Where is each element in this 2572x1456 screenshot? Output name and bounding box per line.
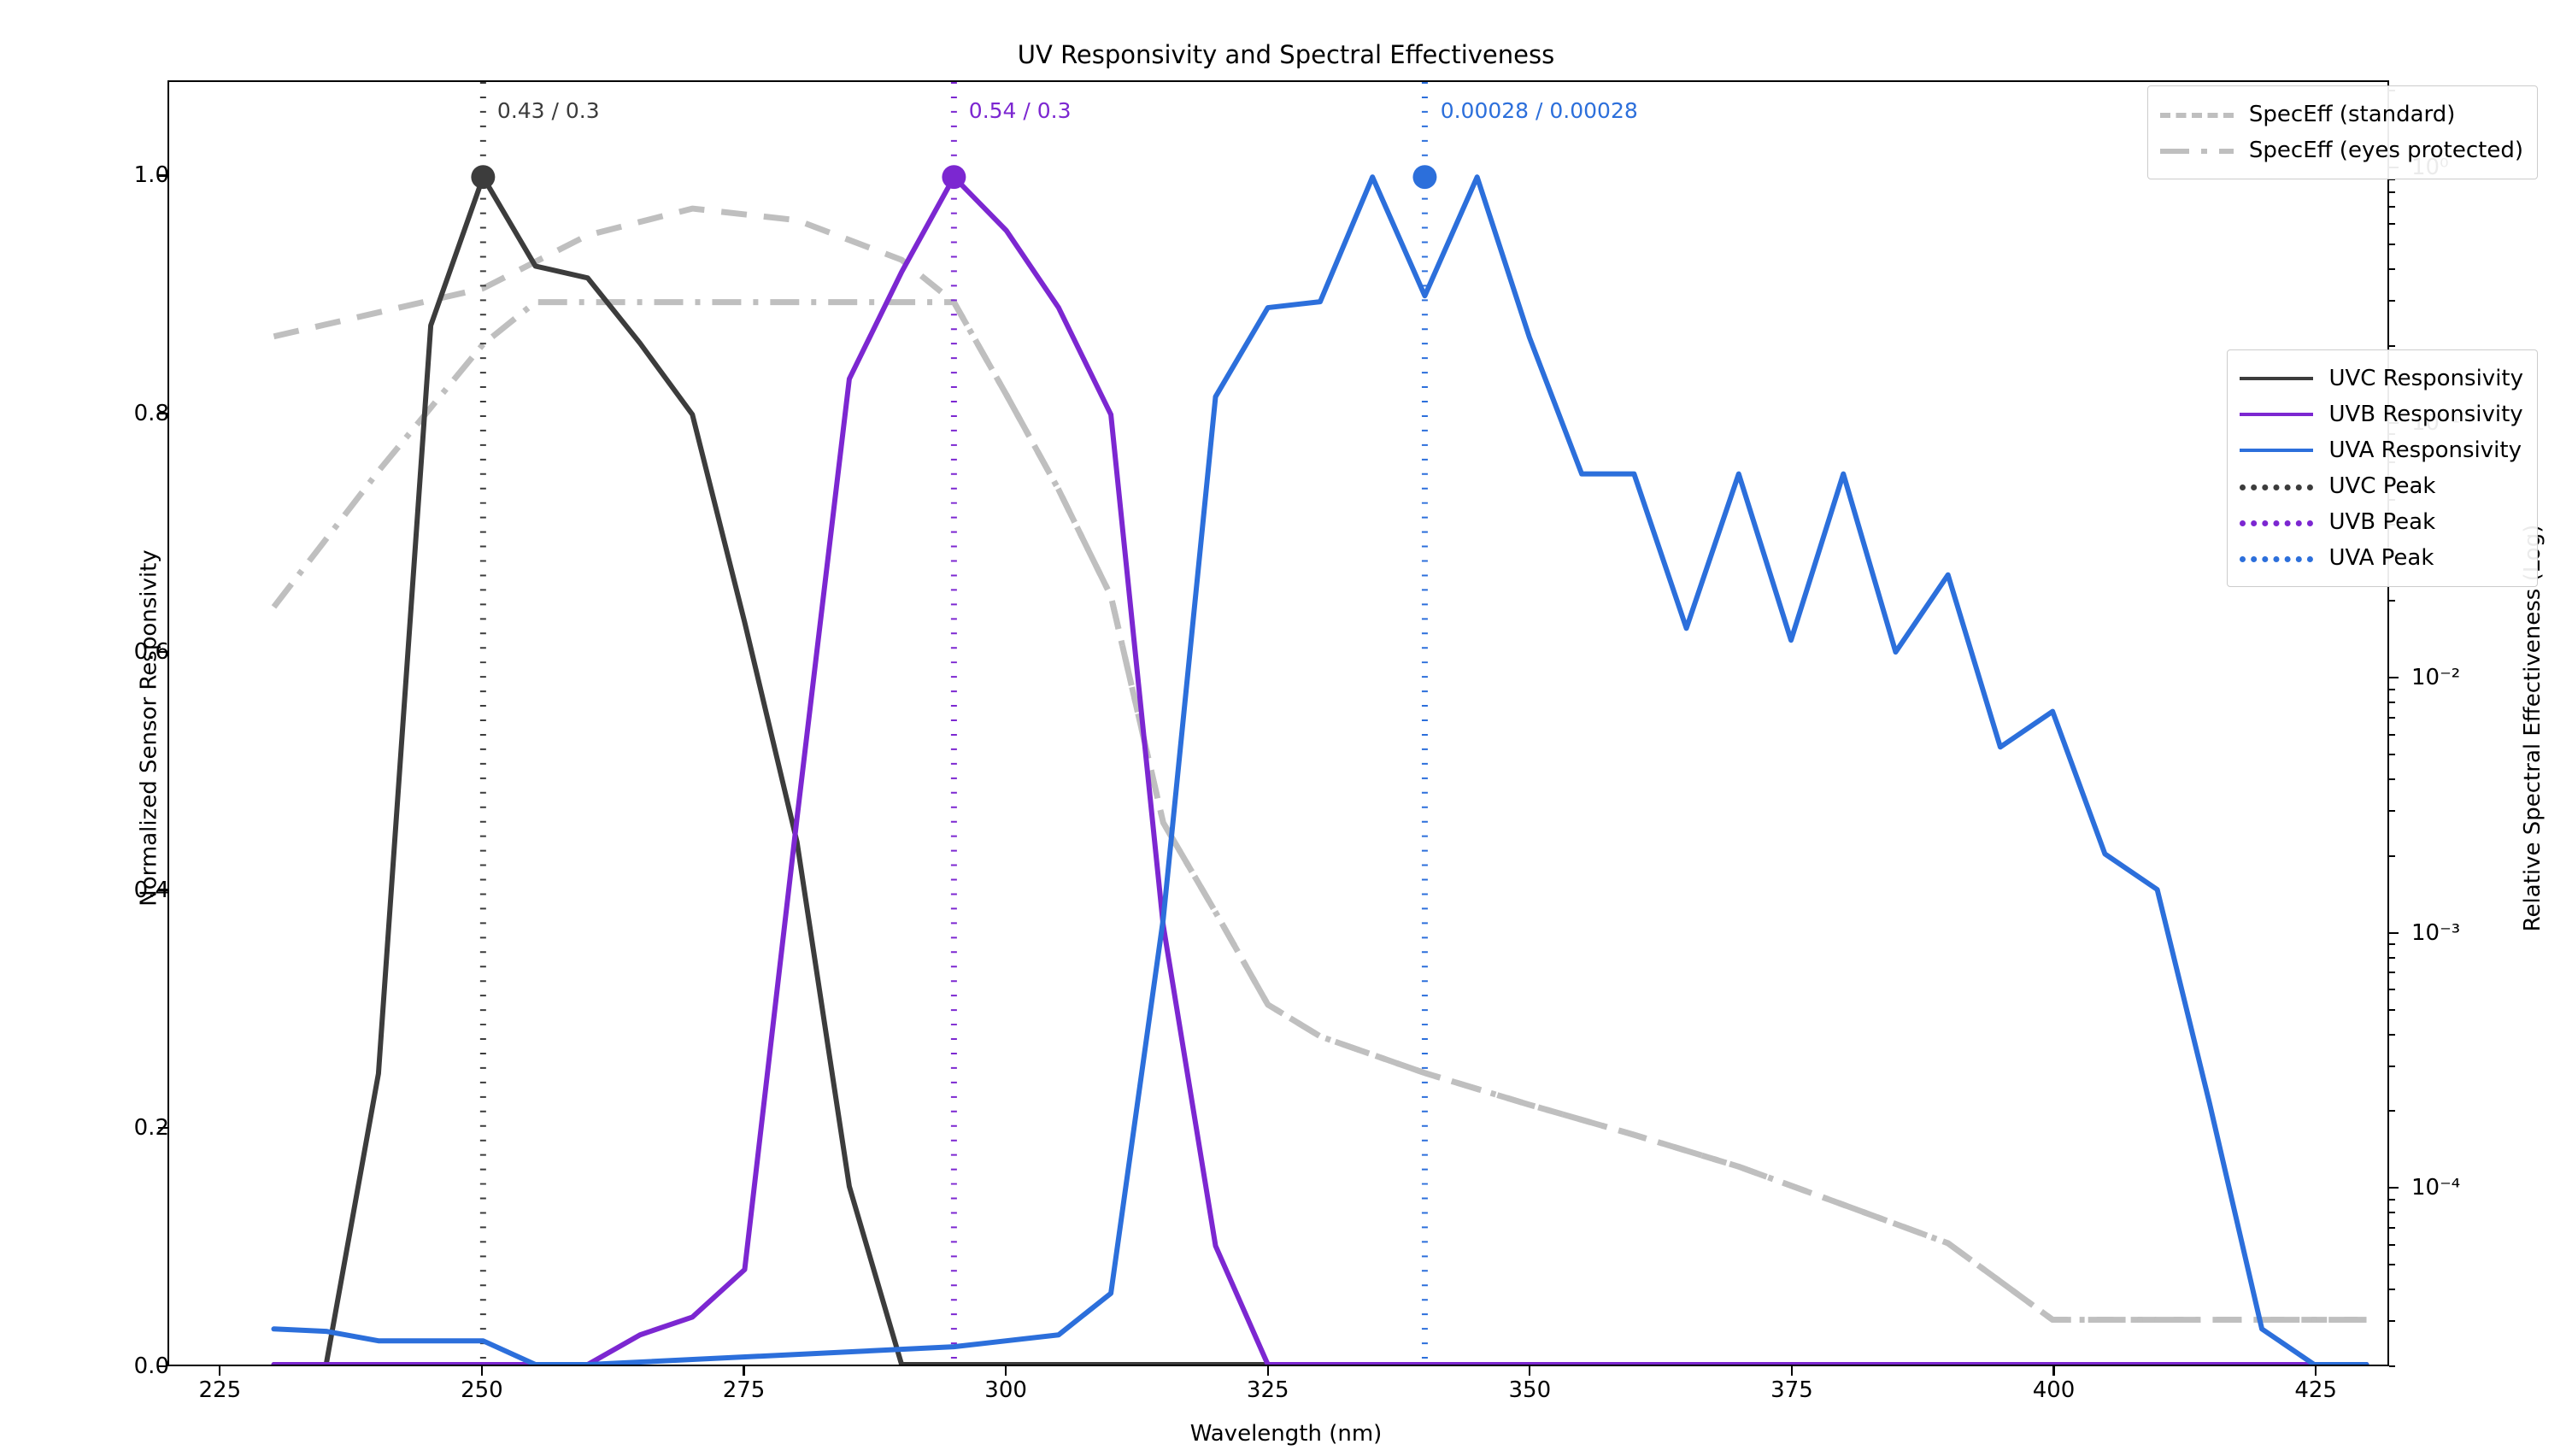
legend-line-swatch-icon xyxy=(2240,369,2313,388)
y-minor-tick-right xyxy=(2389,717,2395,719)
legend-responsivity-item[interactable]: UVC Peak xyxy=(2240,468,2523,504)
series-speceff-eyes-protected xyxy=(273,302,2366,1320)
y-tick-label-right: 10⁻³ xyxy=(2411,920,2531,946)
legend-swatch xyxy=(2240,413,2313,416)
x-tick-label: 300 xyxy=(954,1377,1057,1403)
y-axis-label-left: Normalized Sensor Responsivity xyxy=(137,549,162,906)
y-tick-mark-right xyxy=(2389,677,2399,678)
y-tick-label-left: 1.0 xyxy=(67,162,169,188)
x-tick-mark xyxy=(1267,1366,1269,1376)
y-tick-mark-right xyxy=(2389,1187,2399,1189)
uvb-peak-annotation: 0.54 / 0.3 xyxy=(969,98,1072,123)
x-tick-mark xyxy=(2315,1366,2317,1376)
chart-canvas xyxy=(169,82,2387,1365)
y-minor-tick-right xyxy=(2389,989,2395,990)
legend-swatch xyxy=(2240,484,2313,490)
responsivity-curves-group xyxy=(273,177,2366,1365)
legend-swatch xyxy=(2240,377,2313,380)
y-tick-mark-left xyxy=(158,1365,167,1367)
x-tick-label: 325 xyxy=(1217,1377,1319,1403)
marker-uvb-peak-marker xyxy=(942,165,966,189)
legend-swatch xyxy=(2160,149,2234,154)
y-minor-tick-right xyxy=(2389,244,2395,245)
legend-responsivity-item[interactable]: UVB Responsivity xyxy=(2240,396,2523,432)
y-minor-tick-right xyxy=(2389,600,2395,602)
y-minor-tick-right xyxy=(2389,268,2395,270)
legend-label: UVC Responsivity xyxy=(2328,367,2523,390)
y-minor-tick-right xyxy=(2389,810,2395,812)
uvc-peak-annotation: 0.43 / 0.3 xyxy=(497,98,600,123)
legend-line-swatch-icon xyxy=(2240,513,2313,531)
y-tick-label-right: 10⁻² xyxy=(2411,665,2531,690)
y-minor-tick-right xyxy=(2389,754,2395,755)
y-tick-label-left: 0.0 xyxy=(67,1353,169,1379)
y-minor-tick-right xyxy=(2389,1066,2395,1067)
y-tick-label-right: 10⁻⁴ xyxy=(2411,1175,2531,1201)
legend-swatch xyxy=(2240,520,2313,526)
y-minor-tick-right xyxy=(2389,191,2395,193)
y-minor-tick-right xyxy=(2389,778,2395,780)
legend-line-swatch-icon xyxy=(2240,405,2313,424)
y-minor-tick-right xyxy=(2389,1034,2395,1036)
x-tick-mark xyxy=(2052,1366,2054,1376)
legend-label: UVC Peak xyxy=(2328,475,2435,497)
y-minor-tick-right xyxy=(2389,1009,2395,1011)
y-minor-tick-right xyxy=(2389,1212,2395,1213)
y-minor-tick-right xyxy=(2389,943,2395,945)
peak-vlines-group xyxy=(483,82,1424,1365)
y-minor-tick-right xyxy=(2389,1110,2395,1112)
legend-responsivity-item[interactable]: UVA Responsivity xyxy=(2240,432,2523,468)
y-minor-tick-right xyxy=(2389,734,2395,736)
legend-label: UVB Responsivity xyxy=(2328,403,2522,426)
x-tick-label: 225 xyxy=(168,1377,271,1403)
series-uvc-responsivity xyxy=(273,177,2366,1365)
legend-speceff-item[interactable]: SpecEff (standard) xyxy=(2160,97,2523,132)
marker-uva-peak-marker xyxy=(1412,165,1436,189)
y-tick-mark-left xyxy=(158,651,167,653)
legend-speceff[interactable]: SpecEff (standard)SpecEff (eyes protecte… xyxy=(2147,85,2538,179)
y-minor-tick-right xyxy=(2389,345,2395,347)
y-tick-mark-left xyxy=(158,1127,167,1129)
y-minor-tick-right xyxy=(2389,206,2395,208)
marker-uvc-peak-marker xyxy=(471,165,495,189)
plot-area xyxy=(167,80,2389,1366)
series-uva-responsivity xyxy=(273,177,2366,1365)
page-title: UV Responsivity and Spectral Effectivene… xyxy=(0,40,2572,69)
y-minor-tick-right xyxy=(2389,855,2395,857)
y-minor-tick-right xyxy=(2389,1244,2395,1246)
y-tick-label-left: 0.6 xyxy=(67,639,169,665)
y-tick-mark-left xyxy=(158,413,167,414)
y-tick-label-left: 0.8 xyxy=(67,401,169,426)
y-minor-tick-right xyxy=(2389,1365,2395,1367)
legend-speceff-item[interactable]: SpecEff (eyes protected) xyxy=(2160,132,2523,168)
legend-line-swatch-icon xyxy=(2240,477,2313,496)
legend-responsivity-item[interactable]: UVC Responsivity xyxy=(2240,361,2523,396)
legend-label: SpecEff (standard) xyxy=(2249,103,2456,126)
legend-line-swatch-icon xyxy=(2240,549,2313,567)
x-tick-label: 250 xyxy=(431,1377,533,1403)
y-tick-mark-right xyxy=(2389,932,2399,934)
y-minor-tick-right xyxy=(2389,972,2395,973)
legend-swatch xyxy=(2160,113,2234,118)
x-tick-mark xyxy=(219,1366,220,1376)
x-tick-label: 400 xyxy=(2003,1377,2105,1403)
x-tick-mark xyxy=(481,1366,483,1376)
y-minor-tick-right xyxy=(2389,1320,2395,1322)
legend-responsivity-item[interactable]: UVB Peak xyxy=(2240,504,2523,540)
legend-swatch xyxy=(2240,449,2313,452)
legend-line-swatch-icon xyxy=(2160,141,2234,160)
x-tick-mark xyxy=(1005,1366,1007,1376)
y-minor-tick-right xyxy=(2389,300,2395,302)
legend-label: UVA Responsivity xyxy=(2328,439,2522,461)
series-uvb-responsivity xyxy=(273,177,2366,1365)
x-tick-mark xyxy=(1791,1366,1793,1376)
y-minor-tick-right xyxy=(2389,1199,2395,1201)
y-minor-tick-right xyxy=(2389,957,2395,959)
x-axis-label: Wavelength (nm) xyxy=(0,1421,2572,1447)
legend-responsivity-item[interactable]: UVA Peak xyxy=(2240,540,2523,576)
y-tick-mark-left xyxy=(158,174,167,176)
y-minor-tick-right xyxy=(2389,1289,2395,1290)
legend-line-swatch-icon xyxy=(2160,105,2234,124)
y-minor-tick-right xyxy=(2389,223,2395,225)
y-tick-label-left: 0.2 xyxy=(67,1115,169,1141)
legend-line-swatch-icon xyxy=(2240,441,2313,460)
x-tick-mark xyxy=(743,1366,744,1376)
x-tick-label: 350 xyxy=(1478,1377,1581,1403)
x-tick-label: 375 xyxy=(1741,1377,1843,1403)
figure: UV Responsivity and Spectral Effectivene… xyxy=(0,0,2572,1456)
series-speceff-standard xyxy=(273,208,2366,1319)
x-tick-label: 425 xyxy=(2264,1377,2367,1403)
y-minor-tick-right xyxy=(2389,1227,2395,1229)
legend-label: UVB Peak xyxy=(2328,511,2435,533)
y-minor-tick-right xyxy=(2389,689,2395,690)
y-minor-tick-right xyxy=(2389,702,2395,703)
legend-label: UVA Peak xyxy=(2328,547,2434,569)
y-minor-tick-right xyxy=(2389,1264,2395,1265)
legend-swatch xyxy=(2240,556,2313,562)
x-tick-mark xyxy=(1529,1366,1530,1376)
speceff-curves-group xyxy=(273,208,2366,1319)
legend-label: SpecEff (eyes protected) xyxy=(2249,139,2523,161)
legend-responsivity[interactable]: UVC ResponsivityUVB ResponsivityUVA Resp… xyxy=(2227,349,2538,587)
y-tick-label-left: 0.4 xyxy=(67,878,169,903)
uva-peak-annotation: 0.00028 / 0.00028 xyxy=(1441,98,1638,123)
peak-markers-group xyxy=(471,165,1436,189)
y-tick-mark-left xyxy=(158,889,167,890)
x-tick-label: 275 xyxy=(693,1377,796,1403)
